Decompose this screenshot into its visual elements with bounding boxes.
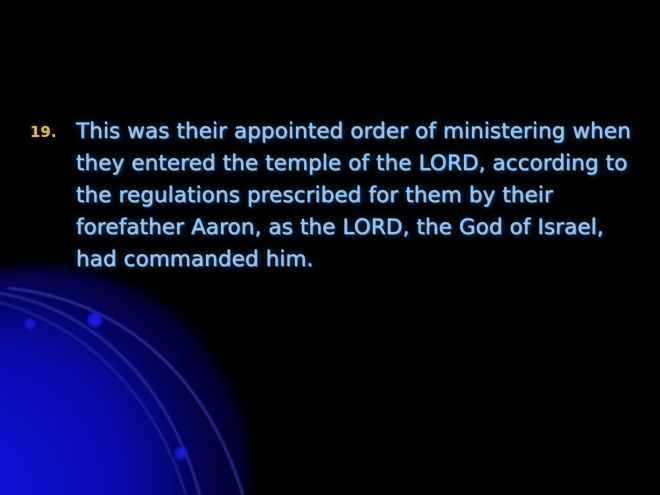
- decorative-dot-large-upper: [88, 313, 102, 327]
- verse-block: 19. This was their appointed order of mi…: [30, 116, 638, 276]
- decorative-arc-middle: [0, 292, 200, 495]
- decorative-dot-small-left: [25, 319, 35, 329]
- verse-body-text: This was their appointed order of minist…: [60, 116, 638, 276]
- blue-glow-inner-ellipse: [0, 320, 180, 495]
- verse-number-label: 19.: [30, 116, 60, 148]
- blue-glow-ellipse: [0, 268, 250, 495]
- presentation-slide: 19. This was their appointed order of mi…: [0, 0, 660, 495]
- decorative-arc-outer: [8, 288, 243, 495]
- decorative-arc-inner: [0, 300, 186, 495]
- decorative-dot-lower: [175, 447, 187, 459]
